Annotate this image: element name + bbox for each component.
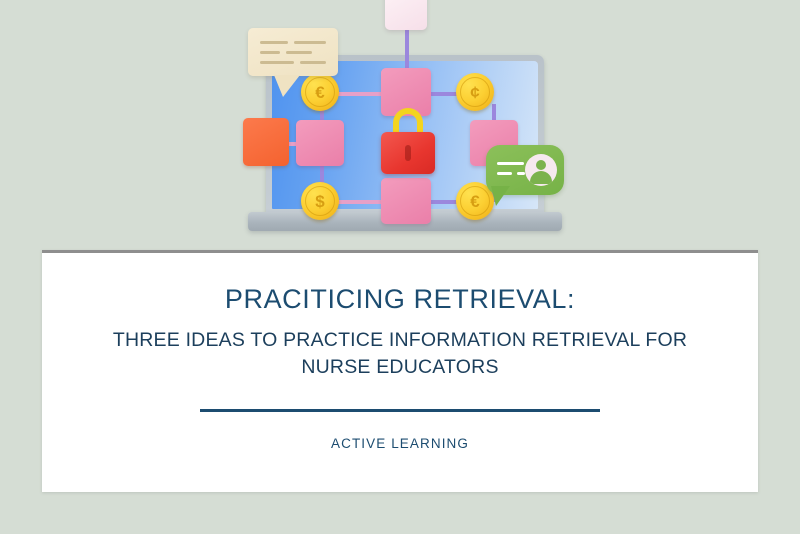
bubble-cream-line-3b xyxy=(300,61,326,64)
coin-bottom-left: $ xyxy=(301,182,339,220)
bubble-cream-line-1b xyxy=(294,41,326,44)
coin-top-left: € xyxy=(301,73,339,111)
node-left-center xyxy=(296,120,344,166)
padlock-body xyxy=(381,132,435,174)
coin-bottom-right-symbol: € xyxy=(470,193,479,210)
node-left-outside xyxy=(243,118,289,166)
bubble-green-tail xyxy=(491,186,510,206)
bubble-cream-line-3a xyxy=(260,61,294,64)
node-bottom-center xyxy=(381,178,431,224)
bubble-cream xyxy=(248,28,338,76)
title-card: PRACITICING RETRIEVAL: THREE IDEAS TO PR… xyxy=(42,250,758,492)
node-top-outside xyxy=(385,0,427,30)
avatar-icon xyxy=(525,154,557,186)
avatar-body xyxy=(530,171,552,184)
bubble-green-line-1 xyxy=(497,162,524,165)
bubble-green-line-2a xyxy=(497,172,512,175)
title-divider xyxy=(200,409,600,412)
page-subtitle: THREE IDEAS TO PRACTICE INFORMATION RETR… xyxy=(80,327,720,382)
coin-top-right-symbol: ¢ xyxy=(470,84,479,101)
page-title: PRACITICING RETRIEVAL: xyxy=(68,285,732,315)
poster-canvas: € ¢ $ € xyxy=(0,0,800,534)
laptop-network-security-illustration: € ¢ $ € xyxy=(248,0,568,250)
bubble-cream-line-2a xyxy=(260,51,280,54)
avatar-head xyxy=(536,160,546,170)
bubble-cream-tail xyxy=(274,75,300,97)
tagline: ACTIVE LEARNING xyxy=(68,436,732,451)
bubble-green-line-2b xyxy=(517,172,525,175)
bubble-cream-line-1a xyxy=(260,41,288,44)
bubble-cream-line-2b xyxy=(286,51,312,54)
padlock-keyhole xyxy=(405,145,411,161)
title-card-content: PRACITICING RETRIEVAL: THREE IDEAS TO PR… xyxy=(42,285,758,451)
coin-top-left-symbol: € xyxy=(315,84,324,101)
padlock-icon xyxy=(381,108,435,174)
coin-top-right: ¢ xyxy=(456,73,494,111)
coin-bottom-left-symbol: $ xyxy=(315,193,324,210)
